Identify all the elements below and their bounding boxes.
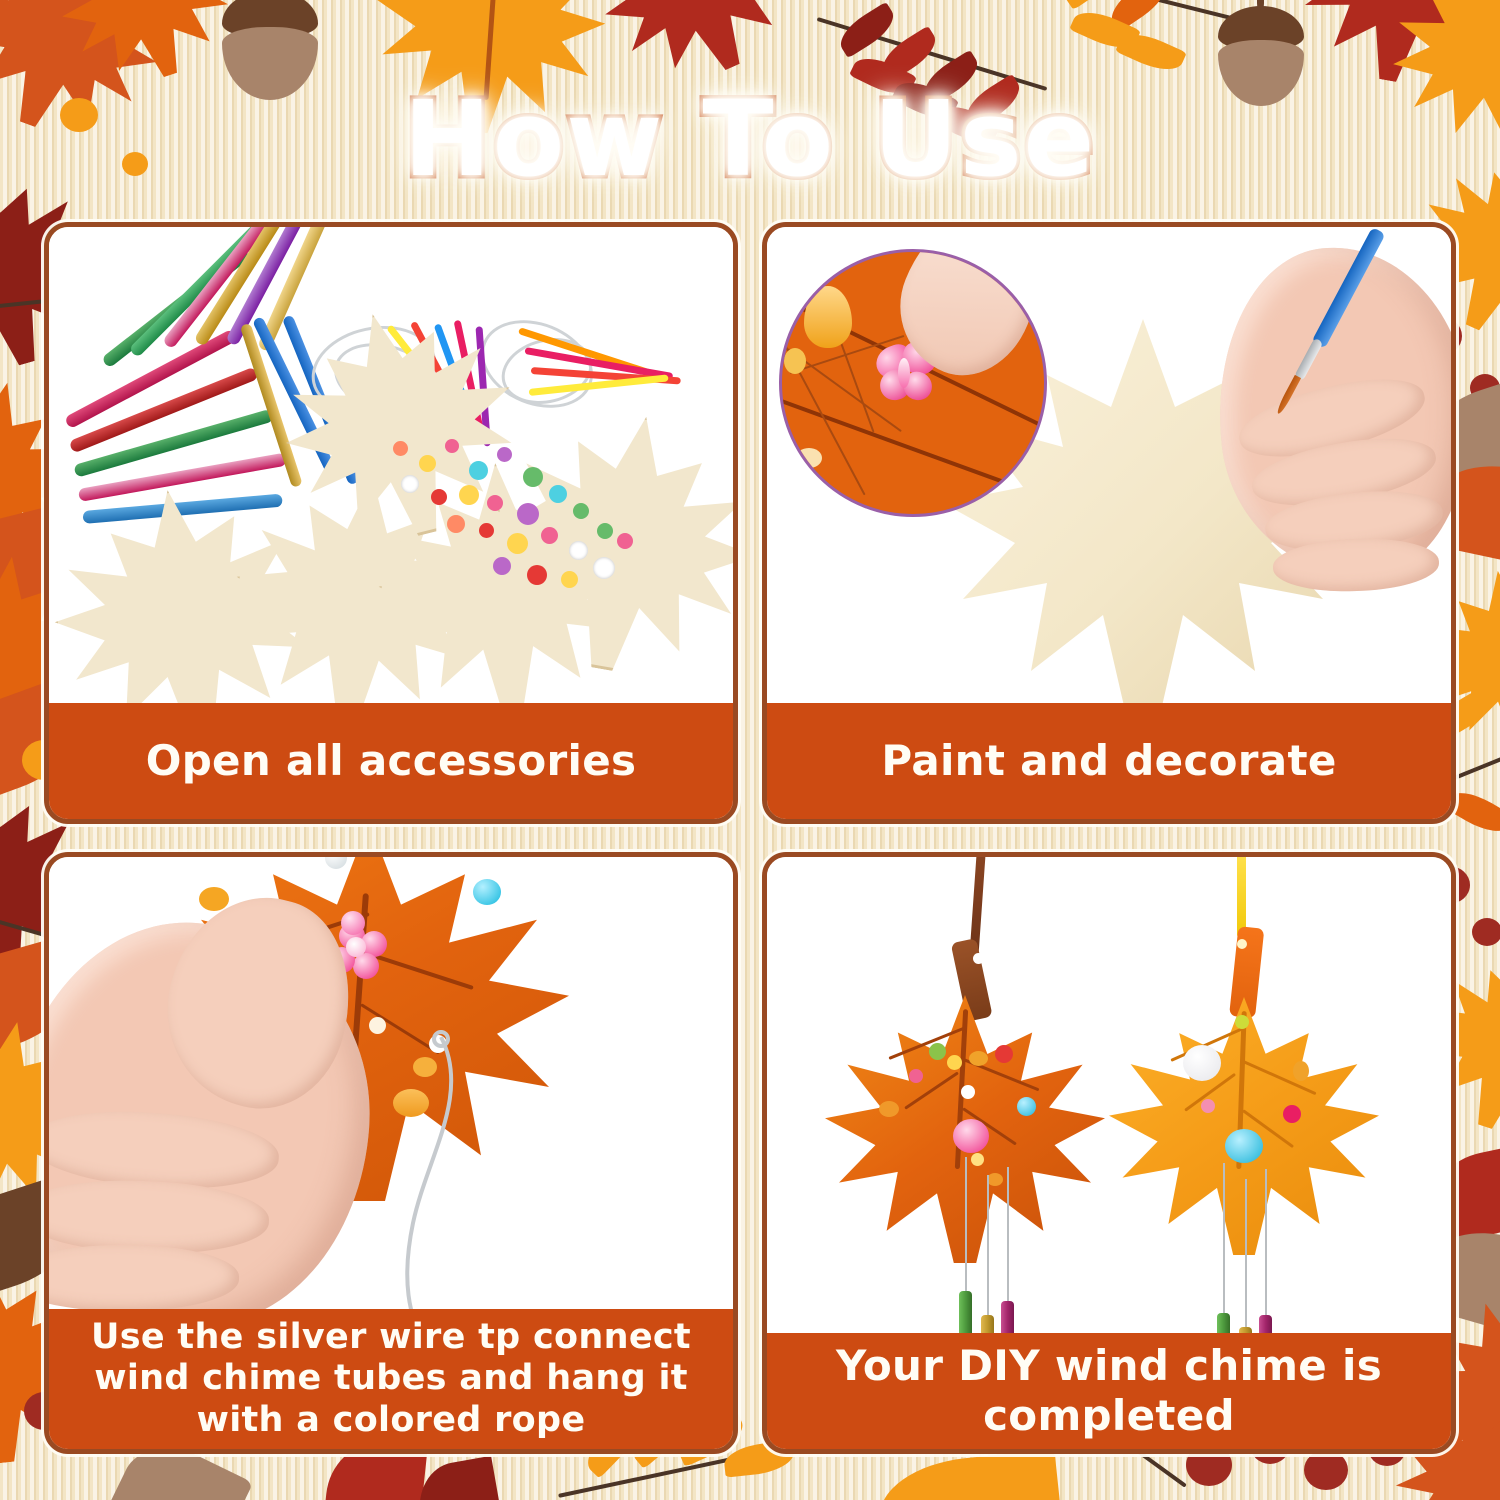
leaf-stem	[951, 938, 993, 1022]
step-4-caption: Your DIY wind chime is completed	[767, 1333, 1451, 1449]
silver-wire	[1265, 1169, 1267, 1315]
rope-hole	[1237, 939, 1247, 949]
paint-dot	[804, 286, 852, 348]
gem-sticker	[445, 439, 459, 453]
gem-sticker	[497, 447, 512, 462]
chime-tube	[981, 1315, 994, 1333]
paint-dot	[784, 348, 806, 374]
gem-sticker	[929, 1043, 946, 1060]
page-title: How To Use	[404, 84, 1096, 194]
chime-tube	[1239, 1327, 1252, 1333]
gem-sticker	[469, 461, 488, 480]
flower-gem-center	[346, 937, 366, 957]
gem-sticker	[947, 1055, 962, 1070]
gem-sticker	[473, 879, 501, 905]
gem-sticker	[369, 1017, 386, 1034]
gem-sticker	[401, 475, 419, 493]
gem-sticker	[987, 1173, 1003, 1186]
silver-wire	[987, 1175, 989, 1315]
infographic-canvas: How To Use	[0, 0, 1500, 1500]
gem-sticker	[479, 523, 494, 538]
leaf-icon	[875, 1449, 1064, 1500]
gem-sticker	[549, 485, 567, 503]
gem-sticker	[493, 557, 511, 575]
chime-tube	[1217, 1313, 1230, 1333]
gem-sticker	[597, 523, 613, 539]
gem-sticker	[995, 1045, 1013, 1063]
rope-hole	[973, 953, 984, 964]
gem-sticker	[593, 557, 615, 579]
silver-wire	[379, 1037, 519, 1309]
gem-sticker	[517, 503, 539, 525]
gem-sticker	[459, 485, 479, 505]
gem-sticker	[909, 1069, 923, 1083]
gem-sticker	[431, 489, 447, 505]
paint-dot	[796, 448, 822, 468]
berry-icon	[1470, 374, 1500, 402]
step-1-caption: Open all accessories	[49, 703, 733, 819]
flower-gem	[953, 1119, 989, 1153]
step-2-caption: Paint and decorate	[767, 703, 1451, 819]
gem-sticker	[569, 541, 588, 560]
flower-gem	[341, 911, 365, 935]
leaf-icon	[1058, 0, 1128, 10]
closeup-inset-circle	[779, 249, 1047, 517]
gem-sticker	[1017, 1097, 1036, 1116]
silver-wire	[965, 1157, 967, 1291]
gem-sticker	[487, 495, 503, 511]
gem-sticker	[1201, 1099, 1215, 1113]
chime-tube	[959, 1291, 972, 1333]
leaf-icon	[412, 1456, 507, 1500]
step-4-photo	[767, 857, 1451, 1333]
gem-sticker	[325, 857, 347, 869]
gem-sticker	[507, 533, 528, 554]
silver-wire	[1223, 1163, 1225, 1313]
gem-sticker	[1293, 1061, 1309, 1081]
gem-sticker	[969, 1051, 988, 1066]
berry-icon	[1472, 918, 1500, 946]
leaf-icon	[1115, 26, 1187, 78]
leaf-icon	[833, 2, 900, 59]
steps-grid: Open all accessories	[44, 222, 1456, 1454]
gem-sticker	[1235, 1015, 1249, 1029]
leaf-icon	[1069, 4, 1141, 56]
gem-sticker	[541, 527, 558, 544]
leaf-icon	[875, 26, 942, 83]
step-2-photo	[767, 227, 1451, 703]
gem-sticker	[617, 533, 633, 549]
branch-icon	[1049, 0, 1254, 25]
step-panel-3: Use the silver wire tp connect wind chim…	[44, 852, 738, 1454]
gem-sticker	[961, 1085, 975, 1099]
berry-icon	[1304, 1450, 1348, 1490]
gem-sticker	[971, 1153, 984, 1166]
gem-sticker	[879, 1101, 899, 1117]
gem-sticker	[1283, 1105, 1301, 1123]
chime-tube	[1001, 1301, 1014, 1333]
step-panel-2: Paint and decorate	[762, 222, 1456, 824]
silver-wire	[1007, 1167, 1009, 1301]
gem-sticker	[199, 887, 229, 911]
step-panel-4: Your DIY wind chime is completed	[762, 852, 1456, 1454]
gem-sticker	[447, 515, 465, 533]
silver-wire	[1245, 1179, 1247, 1327]
flower-gem	[1183, 1045, 1221, 1081]
step-3-caption: Use the silver wire tp connect wind chim…	[49, 1309, 733, 1449]
finger	[49, 1245, 239, 1309]
gem-sticker	[523, 467, 543, 487]
butterfly-gem-body	[898, 358, 910, 388]
gem-sticker	[419, 455, 436, 472]
chime-tube	[1259, 1315, 1272, 1333]
flower-gem	[1225, 1129, 1263, 1163]
leaf-icon	[1104, 0, 1174, 32]
gem-sticker	[573, 503, 589, 519]
gem-sticker	[393, 441, 408, 456]
gem-sticker	[527, 565, 547, 585]
gem-sticker	[561, 571, 578, 588]
page-title-wrapper: How To Use	[0, 84, 1500, 194]
step-panel-1: Open all accessories	[44, 222, 738, 824]
step-3-caption-text: Use the silver wire tp connect wind chim…	[63, 1317, 719, 1441]
step-3-photo	[49, 857, 733, 1309]
step-1-photo	[49, 227, 733, 703]
